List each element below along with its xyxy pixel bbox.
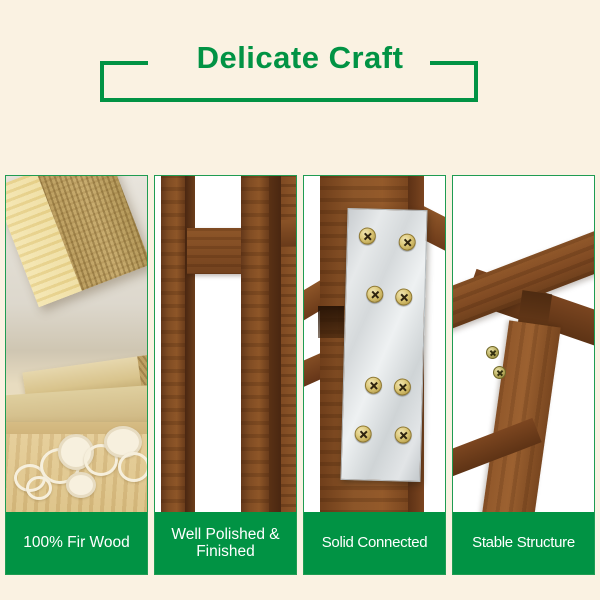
screw-icon	[365, 377, 382, 394]
photo-metal-plate	[304, 176, 445, 512]
panel-caption: 100% Fir Wood	[6, 512, 147, 574]
panel-caption: Stable Structure	[453, 512, 594, 574]
feature-panel-fir-wood: 100% Fir Wood	[5, 175, 148, 575]
screw-icon	[493, 366, 506, 379]
header: Delicate Craft	[0, 0, 600, 175]
feature-panel-stable-structure: Stable Structure	[452, 175, 595, 575]
wood-shaving	[66, 472, 96, 498]
metal-mounting-plate	[340, 208, 427, 482]
wood-post-left	[161, 176, 187, 512]
panel-caption: Well Polished & Finished	[155, 512, 296, 574]
wood-post-right	[241, 176, 271, 512]
screw-icon	[394, 426, 411, 443]
screw-icon	[354, 425, 371, 442]
photo-cross-joint	[453, 176, 594, 512]
photo-polished-posts	[155, 176, 296, 512]
screw-icon	[398, 233, 415, 250]
screw-icon	[486, 346, 499, 359]
wood-joint-seam	[318, 306, 344, 338]
frame-rail-bottom	[100, 98, 478, 102]
wood-plank-end-grain	[137, 352, 147, 390]
panel-caption: Solid Connected	[304, 512, 445, 574]
photo-fir-wood	[6, 176, 147, 512]
page-title: Delicate Craft	[0, 38, 600, 78]
screw-icon	[394, 378, 411, 395]
wood-shaving	[26, 476, 52, 500]
screw-icon	[359, 227, 376, 244]
feature-panel-group: 100% Fir Wood Well Polished & Finished	[0, 175, 600, 577]
feature-panel-solid-connected: Solid Connected	[303, 175, 446, 575]
wood-post-right-edge	[269, 176, 281, 512]
wood-post-left-edge	[185, 176, 195, 512]
screw-icon	[366, 286, 383, 303]
wood-crossbar-stub	[281, 220, 296, 246]
screw-icon	[395, 288, 412, 305]
feature-panel-polished: Well Polished & Finished	[154, 175, 297, 575]
wood-shaving	[118, 452, 147, 482]
